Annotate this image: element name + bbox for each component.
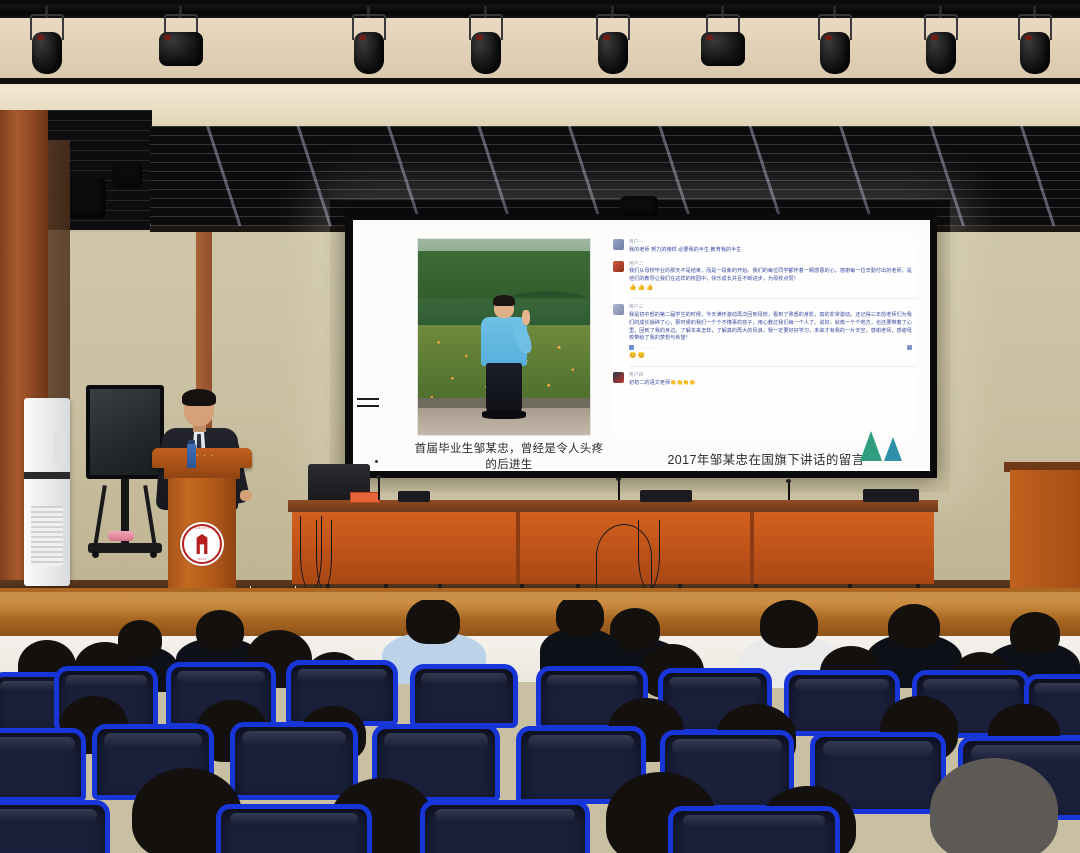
wechat-post-author: 用户三 — [629, 303, 917, 310]
wechat-post-time: · · — [909, 262, 913, 269]
stage-spotlight-icon — [24, 14, 70, 74]
ceiling-light-fixture-icon — [112, 162, 142, 188]
microphone-icon — [788, 482, 790, 500]
audience-head — [760, 600, 818, 648]
avatar — [613, 372, 624, 383]
wechat-post: · · 用户一 我的老师 努力的榜样 必要我的半生 教育我的半生 — [611, 238, 917, 255]
seat[interactable] — [0, 800, 110, 853]
avatar — [613, 304, 624, 315]
photo-person — [480, 298, 528, 420]
stage-spotlight-icon — [812, 14, 858, 74]
table-panel-divider — [516, 512, 520, 584]
table-name-card — [350, 492, 380, 503]
thumb-up-icon — [907, 345, 912, 350]
pink-cloth — [108, 531, 134, 541]
wechat-post-author: 用户一 — [629, 238, 917, 245]
display-screen-surface — [90, 389, 160, 475]
seat[interactable] — [410, 664, 518, 728]
mid-wall — [0, 84, 1080, 128]
air-conditioner-unit — [24, 398, 70, 586]
cable — [316, 520, 332, 590]
podium-top-label: • • • • — [152, 453, 252, 459]
wechat-post: · · 用户三 我是初中部的第二届学生的时候，今天满怀激动再次回到母校，看到了熟… — [611, 303, 917, 361]
table-panel-divider — [750, 512, 754, 584]
audience-head — [930, 758, 1058, 853]
tree-icon — [884, 437, 902, 461]
seat[interactable] — [420, 800, 590, 853]
presentation-slide: · · 用户一 我的老师 努力的榜样 必要我的半生 教育我的半生 · · 用户二… — [353, 220, 930, 471]
photo-person-hand — [522, 310, 530, 325]
seat[interactable] — [0, 728, 86, 802]
laptop-icon — [398, 491, 430, 502]
photo-person-hair — [493, 295, 515, 306]
laptop-icon — [640, 490, 692, 502]
wechat-post-emoji: 😊😊 — [629, 352, 917, 361]
microphone-icon — [618, 480, 620, 500]
ac-vent-grille — [31, 506, 63, 566]
photo-person-pants — [486, 363, 523, 412]
caster-wheel-icon — [92, 551, 99, 558]
wechat-post-text: 我们从母校毕业的那天不是结束，而是一段新的开始。我们的每位同学都怀着一颗感恩的心… — [629, 268, 917, 284]
divider — [629, 366, 917, 367]
audience-head — [406, 600, 460, 644]
auditorium-photo: · · 用户一 我的老师 努力的榜样 必要我的半生 教育我的半生 · · 用户二… — [0, 0, 1080, 853]
wechat-post-emoji: 👍👍👍 — [629, 284, 917, 293]
emblem-top-text: ••••••• — [180, 526, 224, 530]
projection-screen-frame: · · 用户一 我的老师 努力的榜样 必要我的半生 教育我的半生 · · 用户二… — [345, 214, 937, 478]
cable — [638, 520, 660, 590]
wechat-post-author: 用户四 — [629, 371, 917, 378]
tree-icon — [860, 431, 882, 461]
seat[interactable] — [216, 804, 372, 853]
microphone-head-icon — [616, 477, 621, 481]
wechat-post-time: · · — [909, 240, 913, 247]
wechat-post-time: · · — [909, 305, 913, 312]
slide-dash-marks — [357, 398, 379, 412]
wechat-comment-screenshot: · · 用户一 我的老师 努力的榜样 必要我的半生 教育我的半生 · · 用户二… — [611, 238, 917, 434]
stage-spotlight-icon — [346, 14, 392, 74]
stage-spotlight-icon — [1012, 14, 1058, 74]
stand-leg — [143, 485, 157, 547]
slide-photo-graduate — [417, 238, 591, 436]
slide-caption-left: 首届毕业生邹某忠，曾经是令人头疼的后进生 — [409, 442, 609, 471]
divider — [629, 298, 917, 299]
stage-spotlight-icon — [463, 14, 509, 74]
wechat-post-time: · · — [909, 373, 913, 380]
seat[interactable] — [230, 722, 358, 800]
school-emblem-icon: ••••••• ••••• — [180, 522, 224, 566]
ac-band — [24, 472, 70, 479]
side-table-right — [1010, 470, 1080, 590]
wechat-post: · · 用户四 初初二的语文老师👏👏👏👏 — [611, 371, 917, 388]
stage-spotlight-icon — [590, 14, 636, 74]
microphone-head-icon — [786, 479, 791, 483]
audience-head — [1010, 612, 1060, 654]
audience-head — [888, 604, 940, 648]
caster-wheel-icon — [150, 551, 157, 558]
seat[interactable] — [668, 806, 840, 853]
avatar — [613, 261, 624, 272]
wechat-post-text: 我的老师 努力的榜样 必要我的半生 教育我的半生 — [629, 247, 917, 255]
microphone-head-icon — [376, 475, 381, 479]
emblem-bottom-text: ••••• — [180, 557, 224, 561]
laptop-icon — [863, 489, 919, 502]
ac-control-panel — [54, 432, 66, 462]
slide-dot-mark — [375, 460, 378, 463]
stage-spotlight-icon — [918, 14, 964, 74]
wechat-like-count: · · · · · · · · — [637, 345, 656, 350]
podium-top-surface: • • • • — [152, 448, 252, 468]
audience-head — [196, 610, 244, 650]
table-top — [288, 500, 938, 512]
stand-leg — [93, 485, 107, 547]
photo-person-shoes — [482, 410, 526, 420]
wechat-post-text: 初初二的语文老师👏👏👏👏 — [629, 380, 917, 388]
projector-icon — [620, 196, 658, 216]
audience-seating — [0, 600, 1080, 853]
podium-body: ••••••• ••••• — [168, 478, 236, 596]
slide-tree-decoration — [860, 427, 906, 461]
wechat-post: · · 用户二 我们从母校毕业的那天不是结束，而是一段新的开始。我们的每位同学都… — [611, 260, 917, 294]
stage-spotlight-icon — [700, 14, 746, 74]
water-bottle — [187, 444, 196, 468]
wechat-post-text: 我是初中部的第二届学生的时候，今天满怀激动再次回到母校，看到了熟悉的身影，真的非… — [629, 312, 917, 344]
wechat-post-author: 用户二 — [629, 260, 917, 267]
avatar — [613, 239, 624, 250]
stage-spotlight-icon — [158, 14, 204, 74]
speaker-hair — [182, 389, 216, 406]
speaker-podium: • • • • ••••••• ••••• — [158, 448, 246, 596]
microphone-icon — [378, 478, 380, 500]
mobile-display-stand — [86, 385, 164, 593]
audience-head — [556, 600, 604, 636]
like-icon — [629, 345, 634, 350]
